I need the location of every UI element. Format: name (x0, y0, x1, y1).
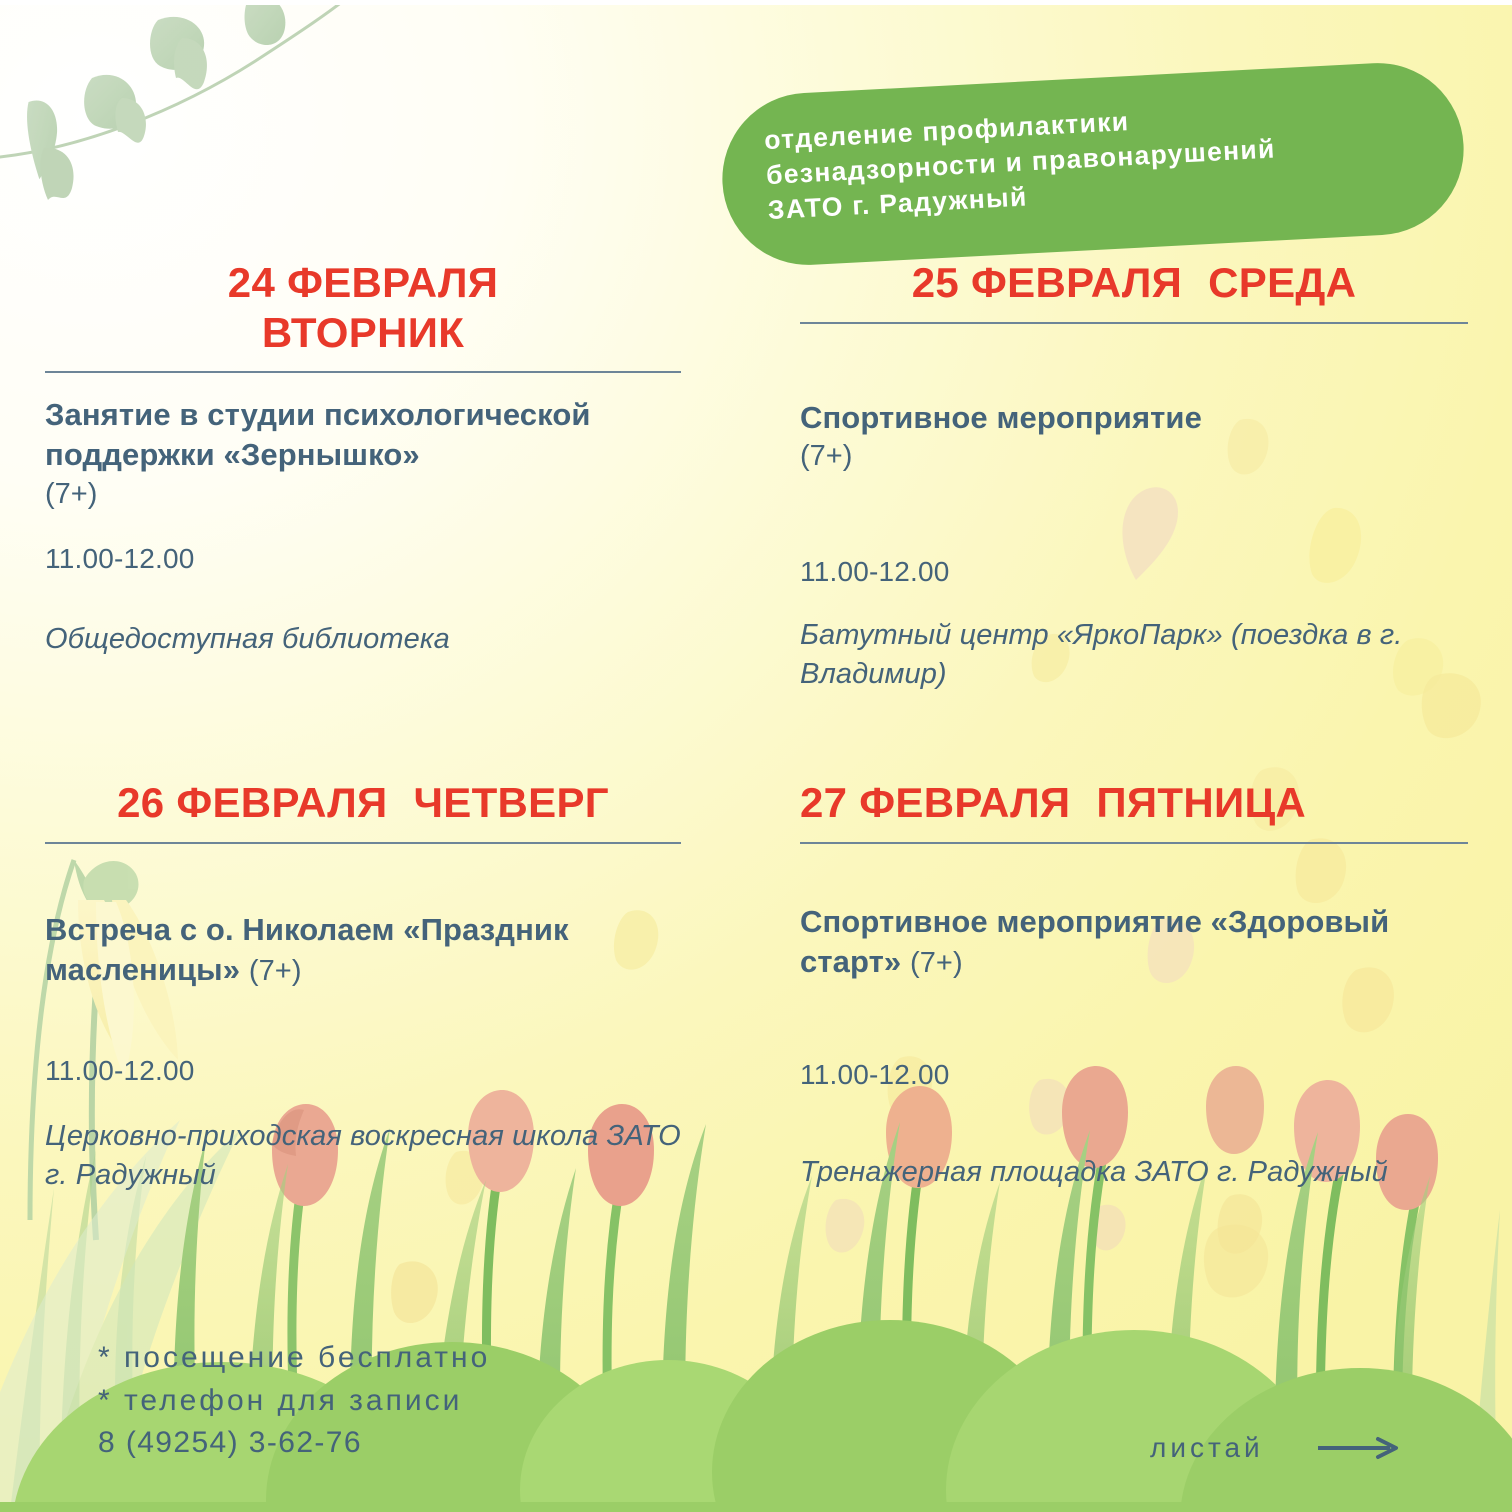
event-place: Общедоступная библиотека (45, 620, 681, 659)
event-age: (7+) (45, 476, 681, 514)
swipe-hint[interactable]: листай (1150, 1432, 1402, 1464)
day-date: 27 ФЕВРАЛЯ (800, 779, 1070, 826)
top-edge-sliver (0, 0, 1512, 5)
day-card-25-february: 25 ФЕВРАЛЯСРЕДА Спортивное мероприятие (… (800, 258, 1468, 694)
event-time: 11.00-12.00 (800, 554, 1468, 590)
day-divider (800, 842, 1468, 844)
schedule-grid: 24 ФЕВРАЛЯ ВТОРНИК Занятие в студии псих… (0, 0, 1512, 1512)
contact-phone[interactable]: 8 (49254) 3-62-76 (98, 1422, 490, 1465)
day-date: 25 ФЕВРАЛЯ (912, 259, 1182, 306)
day-card-26-february: 26 ФЕВРАЛЯЧЕТВЕРГ Встреча с о. Николаем … (45, 778, 681, 1195)
event-title: Занятие в студии психологической поддерж… (45, 395, 681, 476)
note-phone-label: * телефон для записи (98, 1380, 490, 1423)
event-time: 11.00-12.00 (45, 1053, 681, 1089)
event-time: 11.00-12.00 (800, 1057, 1468, 1093)
day-date: 24 ФЕВРАЛЯ (228, 259, 498, 306)
event-title-text: Спортивное мероприятие «Здоровый старт» (800, 904, 1389, 979)
event-place: Церковно-приходская воскресная школа ЗАТ… (45, 1117, 681, 1195)
day-weekday: СРЕДА (1208, 259, 1356, 306)
event-details: Занятие в студии психологической поддерж… (45, 395, 681, 659)
event-title: Спортивное мероприятие «Здоровый старт» … (800, 902, 1468, 983)
day-divider (45, 371, 681, 373)
poster-canvas: отделение профилактики безнадзорности и … (0, 0, 1512, 1512)
day-heading-27-february: 27 ФЕВРАЛЯПЯТНИЦА (800, 778, 1468, 828)
event-details: Спортивное мероприятие «Здоровый старт» … (800, 902, 1468, 1193)
footer-notes: * посещение бесплатно * телефон для запи… (98, 1337, 490, 1465)
arrow-right-icon (1316, 1436, 1402, 1460)
day-heading-24-february: 24 ФЕВРАЛЯ ВТОРНИК (45, 258, 681, 357)
event-age: (7+) (910, 947, 963, 979)
day-weekday: ЧЕТВЕРГ (413, 779, 608, 826)
swipe-label: листай (1150, 1432, 1264, 1464)
event-age: (7+) (249, 955, 302, 987)
event-title: Встреча с о. Николаем «Праздник маслениц… (45, 910, 681, 991)
event-place: Тренажерная площадка ЗАТО г. Радужный (800, 1153, 1468, 1192)
event-age: (7+) (800, 438, 1468, 476)
day-weekday: ПЯТНИЦА (1096, 779, 1306, 826)
note-free-admission: * посещение бесплатно (98, 1337, 490, 1380)
event-title: Спортивное мероприятие (800, 398, 1468, 438)
day-weekday: ВТОРНИК (262, 309, 464, 356)
day-heading-26-february: 26 ФЕВРАЛЯЧЕТВЕРГ (45, 778, 681, 828)
event-time: 11.00-12.00 (45, 541, 681, 577)
day-date: 26 ФЕВРАЛЯ (117, 779, 387, 826)
event-title-text: Встреча с о. Николаем «Праздник маслениц… (45, 912, 569, 987)
day-divider (800, 322, 1468, 324)
day-card-24-february: 24 ФЕВРАЛЯ ВТОРНИК Занятие в студии псих… (45, 258, 681, 659)
day-heading-25-february: 25 ФЕВРАЛЯСРЕДА (800, 258, 1468, 308)
day-card-27-february: 27 ФЕВРАЛЯПЯТНИЦА Спортивное мероприятие… (800, 778, 1468, 1192)
event-details: Спортивное мероприятие (7+) 11.00-12.00 … (800, 398, 1468, 695)
event-place: Батутный центр «ЯркоПарк» (поездка в г. … (800, 616, 1468, 694)
day-divider (45, 842, 681, 844)
event-details: Встреча с о. Николаем «Праздник маслениц… (45, 910, 681, 1196)
